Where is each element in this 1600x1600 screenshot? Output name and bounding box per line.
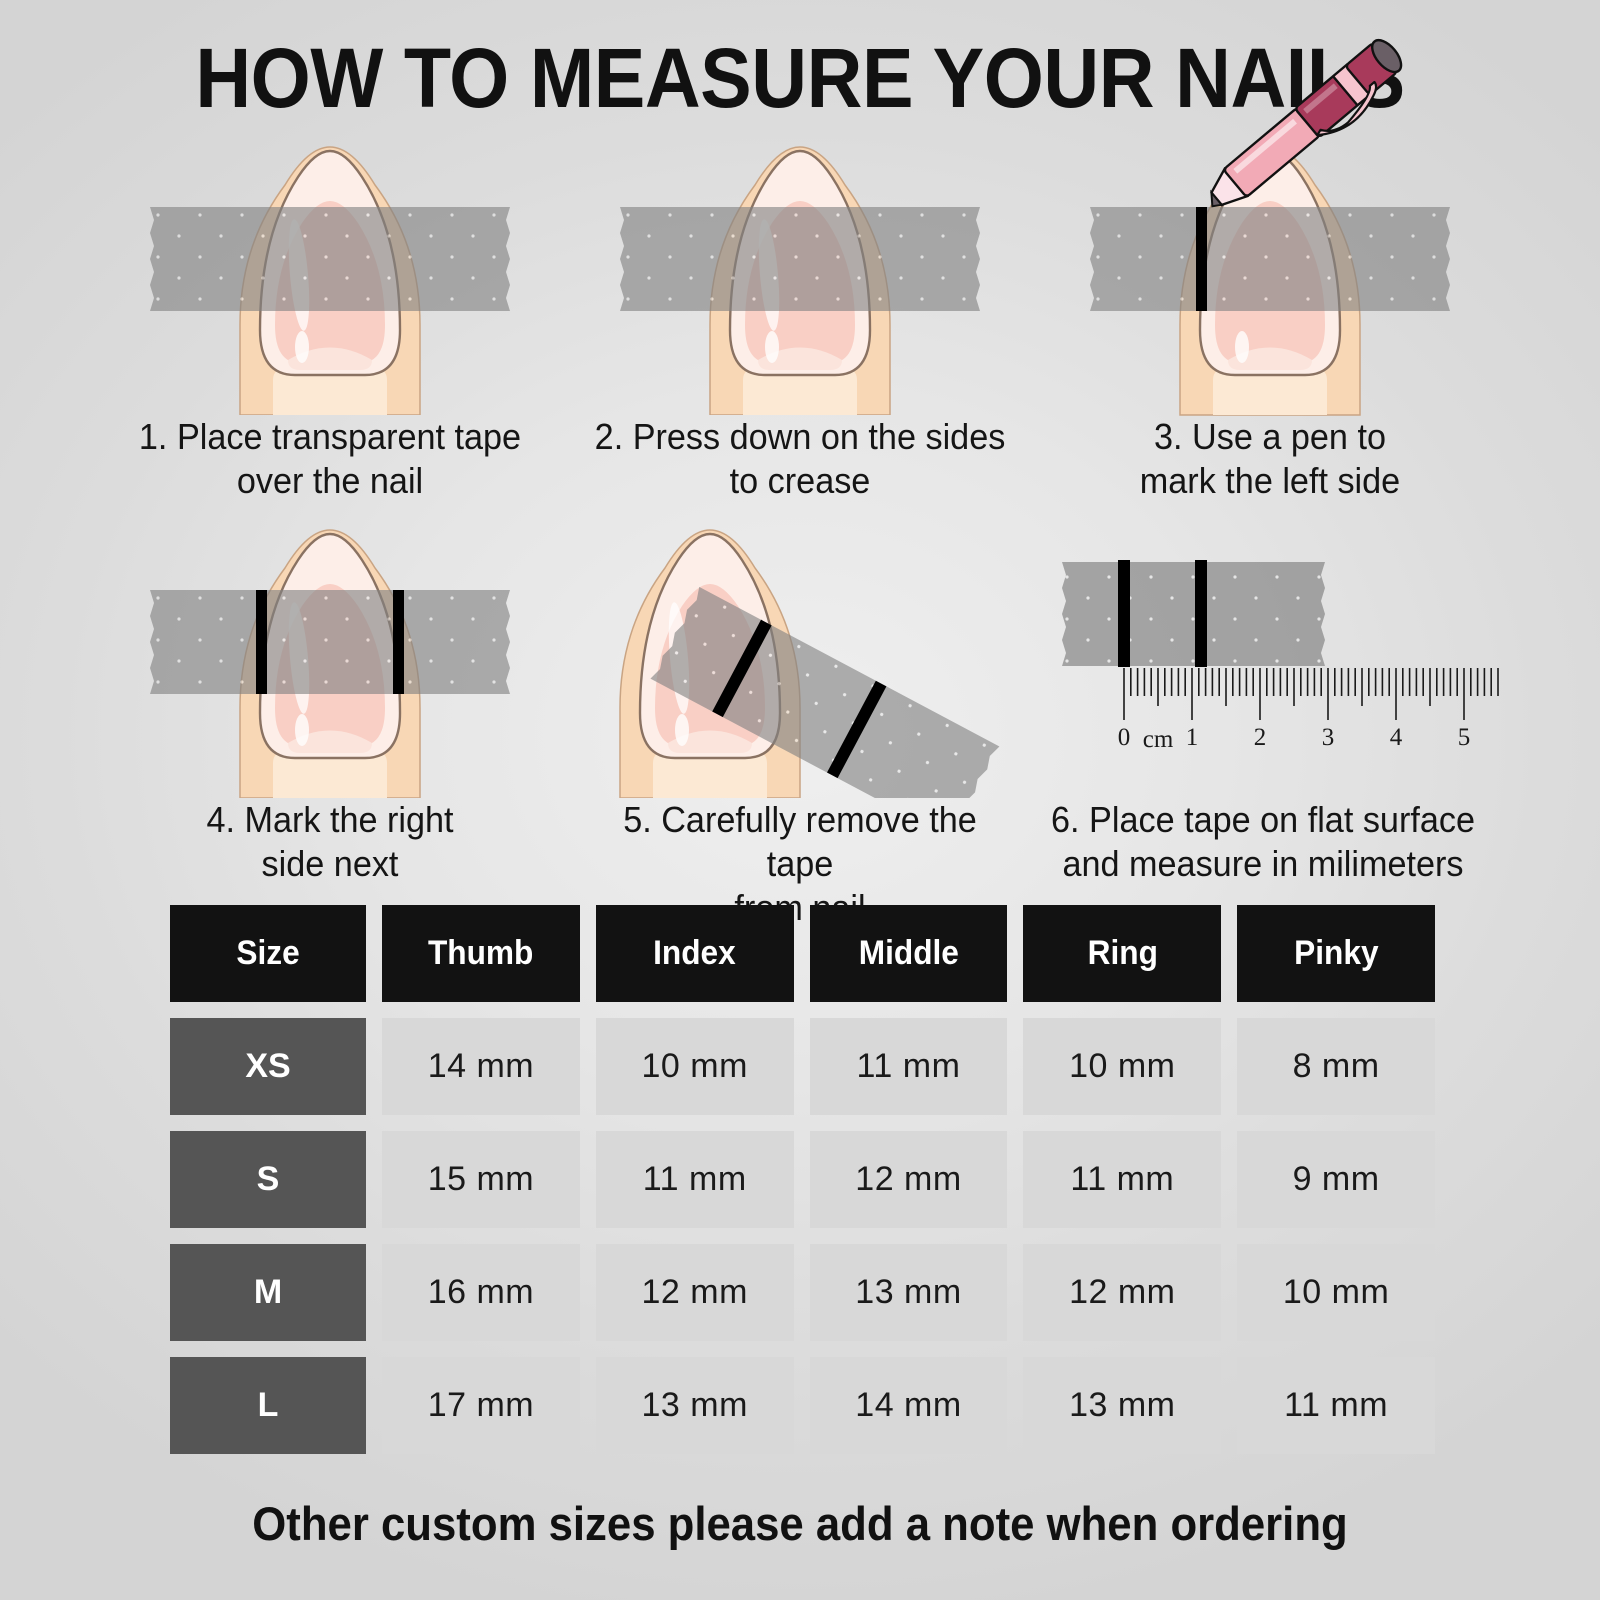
cell-m-middle: 13 mm — [810, 1244, 1008, 1341]
step-1-caption-line1: 1. Place transparent tape — [121, 415, 539, 459]
step-4-caption-line2: side next — [121, 842, 539, 886]
size-label-l: L — [170, 1357, 366, 1454]
step-4-illustration — [110, 508, 550, 798]
table-header-size: Size — [170, 905, 366, 1002]
ruler-tick-3: 3 — [1308, 724, 1348, 752]
ruler-tick-4: 4 — [1376, 724, 1416, 752]
step-2-caption: 2. Press down on the sides to crease — [591, 415, 1009, 503]
finger-pen-mark-svg — [1050, 125, 1490, 415]
step-4: 4. Mark the right side next — [110, 508, 550, 886]
tape-strip — [150, 590, 510, 694]
finger-two-marks-svg — [110, 508, 550, 798]
step-1-illustration — [110, 125, 550, 415]
table-row: M 16 mm 12 mm 13 mm 12 mm 10 mm — [170, 1244, 1435, 1341]
step-1-caption: 1. Place transparent tape over the nail — [121, 415, 539, 503]
cell-l-pinky: 11 mm — [1237, 1357, 1435, 1454]
left-mark — [1196, 207, 1207, 311]
step-2-caption-line2: to crease — [591, 459, 1009, 503]
step-2-illustration — [580, 125, 1020, 415]
tape-strip — [1090, 207, 1450, 311]
table-header-middle: Middle — [810, 905, 1008, 1002]
size-label-s: S — [170, 1131, 366, 1228]
right-mark — [393, 590, 404, 694]
cell-xs-pinky: 8 mm — [1237, 1018, 1435, 1115]
ruler-tick-1: 1 — [1172, 724, 1212, 752]
cell-m-thumb: 16 mm — [382, 1244, 580, 1341]
cell-s-middle: 12 mm — [810, 1131, 1008, 1228]
step-6-caption-line1: 6. Place tape on flat surface — [1040, 798, 1487, 842]
table-row: S 15 mm 11 mm 12 mm 11 mm 9 mm — [170, 1131, 1435, 1228]
size-chart-table: Size Thumb Index Middle Ring Pinky XS 14… — [170, 905, 1435, 1470]
step-1-caption-line2: over the nail — [121, 459, 539, 503]
step-3-caption: 3. Use a pen to mark the left side — [1061, 415, 1479, 503]
table-header-pinky: Pinky — [1237, 905, 1435, 1002]
step-4-caption-line1: 4. Mark the right — [121, 798, 539, 842]
table-header-thumb: Thumb — [382, 905, 580, 1002]
cell-xs-thumb: 14 mm — [382, 1018, 580, 1115]
ruler-labels: 0 cm 1 2 3 4 5 — [1040, 508, 1500, 798]
table-header-row: Size Thumb Index Middle Ring Pinky — [170, 905, 1435, 1002]
cell-m-ring: 12 mm — [1023, 1244, 1221, 1341]
cell-l-index: 13 mm — [596, 1357, 794, 1454]
cell-xs-middle: 11 mm — [810, 1018, 1008, 1115]
step-3: 3. Use a pen to mark the left side — [1050, 125, 1490, 503]
cell-s-ring: 11 mm — [1023, 1131, 1221, 1228]
step-5-caption-line1: 5. Carefully remove the tape — [591, 798, 1009, 886]
left-mark — [256, 590, 267, 694]
ruler-tick-5: 5 — [1444, 724, 1484, 752]
size-label-m: M — [170, 1244, 366, 1341]
cell-xs-ring: 10 mm — [1023, 1018, 1221, 1115]
step-2: 2. Press down on the sides to crease — [580, 125, 1020, 503]
tape-strip — [150, 207, 510, 311]
step-5-illustration — [580, 508, 1020, 798]
table-row: L 17 mm 13 mm 14 mm 13 mm 11 mm — [170, 1357, 1435, 1454]
table-row: XS 14 mm 10 mm 11 mm 10 mm 8 mm — [170, 1018, 1435, 1115]
step-1: 1. Place transparent tape over the nail — [110, 125, 550, 503]
cell-m-pinky: 10 mm — [1237, 1244, 1435, 1341]
cell-xs-index: 10 mm — [596, 1018, 794, 1115]
ruler-tick-2: 2 — [1240, 724, 1280, 752]
step-2-caption-line1: 2. Press down on the sides — [591, 415, 1009, 459]
step-3-caption-line2: mark the left side — [1061, 459, 1479, 503]
cell-l-middle: 14 mm — [810, 1357, 1008, 1454]
cell-s-pinky: 9 mm — [1237, 1131, 1435, 1228]
step-4-caption: 4. Mark the right side next — [121, 798, 539, 886]
cell-l-ring: 13 mm — [1023, 1357, 1221, 1454]
step-6-caption: 6. Place tape on flat surface and measur… — [1040, 798, 1487, 886]
step-3-illustration — [1050, 125, 1490, 415]
step-6-illustration: 0 cm 1 2 3 4 5 — [1040, 508, 1480, 798]
table-header-ring: Ring — [1023, 905, 1221, 1002]
step-6-caption-line2: and measure in milimeters — [1040, 842, 1487, 886]
finger-with-tape-svg — [110, 125, 550, 415]
step-3-caption-line1: 3. Use a pen to — [1061, 415, 1479, 459]
finger-creased-tape-svg — [580, 125, 1020, 415]
footer-note: Other custom sizes please add a note whe… — [56, 1496, 1544, 1551]
infographic-root: HOW TO MEASURE YOUR NAILS — [0, 0, 1600, 1600]
step-5: 5. Carefully remove the tape from nail — [580, 508, 1020, 930]
cell-s-index: 11 mm — [596, 1131, 794, 1228]
step-6: 0 cm 1 2 3 4 5 6. Place tape on flat sur… — [1040, 508, 1480, 886]
finger-peeling-tape-svg — [580, 508, 1020, 798]
tape-strip — [620, 207, 980, 311]
table-header-index: Index — [596, 905, 794, 1002]
cell-s-thumb: 15 mm — [382, 1131, 580, 1228]
cell-l-thumb: 17 mm — [382, 1357, 580, 1454]
cell-m-index: 12 mm — [596, 1244, 794, 1341]
size-label-xs: XS — [170, 1018, 366, 1115]
